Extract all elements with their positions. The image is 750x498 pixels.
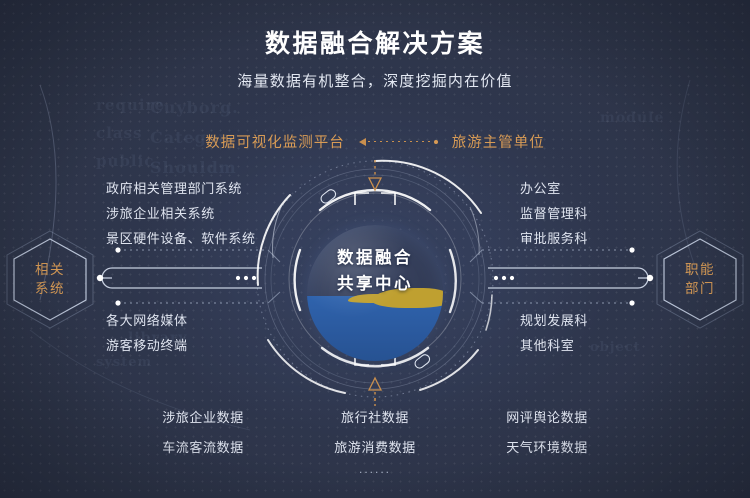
right-top-department-list: 办公室 监督管理科 审批服务科 [520, 176, 588, 251]
hexagon-related-systems[interactable]: 相关 系统 [14, 238, 86, 320]
center-label: 数据融合 共享中心 [307, 245, 443, 297]
hex-left-line2: 系统 [35, 279, 65, 298]
list-item: 网评舆论数据 [479, 405, 615, 431]
list-item: 旅行社数据 [307, 405, 443, 431]
hex-right-line2: 部门 [685, 279, 715, 298]
list-item: 车流客流数据 [135, 435, 271, 461]
list-item: 政府相关管理部门系统 [106, 176, 256, 201]
list-item: 涉旅企业数据 [135, 405, 271, 431]
left-top-source-list: 政府相关管理部门系统 涉旅企业相关系统 景区硬件设备、软件系统 [106, 176, 256, 251]
list-item: 规划发展科 [520, 308, 588, 333]
bottom-data-type-grid: 涉旅企业数据 旅行社数据 网评舆论数据 车流客流数据 旅游消费数据 天气环境数据 [0, 405, 750, 461]
list-item: 涉旅企业相关系统 [106, 201, 256, 226]
hex-left-line1: 相关 [35, 260, 65, 279]
center-label-line2: 共享中心 [307, 271, 443, 297]
center-label-line1: 数据融合 [307, 245, 443, 271]
list-item: 天气环境数据 [479, 435, 615, 461]
list-item: 各大网络媒体 [106, 308, 188, 333]
bottom-ellipsis: ...... [0, 462, 750, 476]
infographic-canvas: require class public Cuyborg. Category S… [0, 0, 750, 498]
list-item: 监督管理科 [520, 201, 588, 226]
list-item: 审批服务科 [520, 226, 588, 251]
list-item: 旅游消费数据 [307, 435, 443, 461]
hexagon-functional-departments[interactable]: 职能 部门 [664, 238, 736, 320]
right-bottom-department-list: 规划发展科 其他科室 [520, 308, 588, 358]
hex-right-line1: 职能 [685, 260, 715, 279]
left-bottom-source-list: 各大网络媒体 游客移动终端 [106, 308, 188, 358]
list-item: 景区硬件设备、软件系统 [106, 226, 256, 251]
list-item: 游客移动终端 [106, 333, 188, 358]
list-item: 办公室 [520, 176, 588, 201]
list-item: 其他科室 [520, 333, 588, 358]
